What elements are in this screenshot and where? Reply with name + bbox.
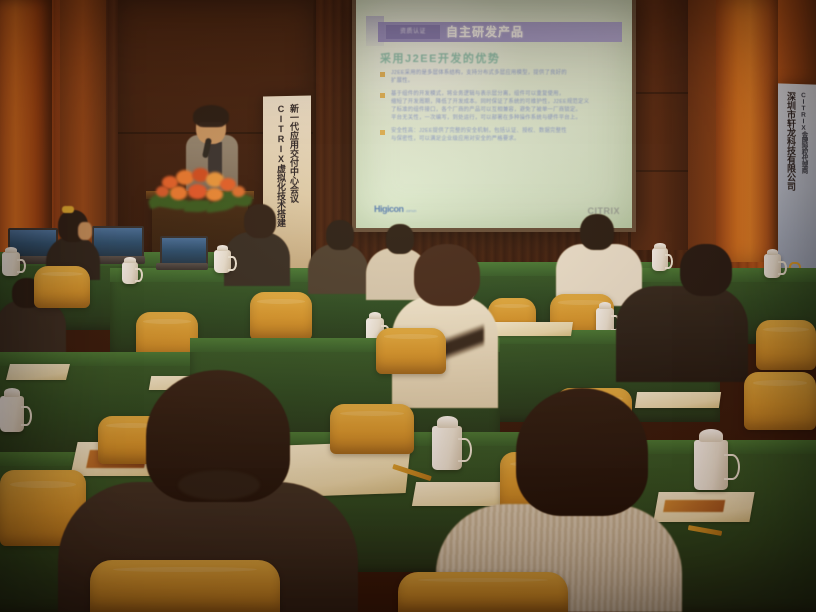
presenter-glasses	[199, 122, 223, 127]
lidded-tea-mug[interactable]	[122, 262, 138, 284]
banquet-chair[interactable]	[398, 572, 568, 612]
slide-bullet: J2EE采用的是多层体系结构，支持分布式多层应用模型，提供了良好的 扩展性。	[380, 70, 618, 85]
handout-brochure[interactable]	[491, 322, 573, 336]
handout-brochure[interactable]	[653, 492, 754, 522]
handout-brochure[interactable]	[635, 392, 721, 408]
slide-bullet: 安全性高：J2EE提供了完整的安全机制，包括认证、授权、数据完整性 与保密性，可…	[380, 128, 618, 143]
banquet-chair[interactable]	[250, 292, 312, 340]
left-banner-line1: CITRIX虚拟化技术搭建	[275, 104, 286, 227]
right-banner-line2: CITRIX金牌授权代理商	[798, 92, 809, 191]
projection-screen-surface: 资质认证 自主研发产品 采用J2EE开发的优势 J2EE采用的是多层体系结构，支…	[356, 0, 632, 228]
wall-panel-right-2	[688, 0, 718, 250]
right-roll-up-banner: 深圳市轩龙科技有限公司 CITRIX金牌授权代理商	[778, 83, 816, 290]
banquet-chair[interactable]	[330, 404, 414, 454]
flower-arrangement	[148, 166, 256, 212]
left-banner-line2: 新一代应用交付中心会议	[288, 104, 299, 227]
wall-seam-1	[313, 0, 316, 262]
lidded-tea-mug[interactable]	[652, 248, 668, 271]
slide-footer-logo: Higicon.com.cn	[374, 204, 416, 214]
hair-clip	[62, 206, 74, 213]
handout-brochure[interactable]	[6, 364, 70, 380]
slide-title: 自主研发产品	[446, 24, 524, 40]
conference-photo: 资质认证 自主研发产品 采用J2EE开发的优势 J2EE采用的是多层体系结构，支…	[0, 0, 816, 612]
pillar-right	[716, 0, 778, 262]
lidded-tea-mug[interactable]	[214, 250, 231, 273]
slide-title-tab-label: 资质认证	[386, 25, 440, 39]
lidded-tea-mug[interactable]	[764, 254, 781, 278]
slide-bullet-list: J2EE采用的是多层体系结构，支持分布式多层应用模型，提供了良好的 扩展性。 基…	[380, 70, 618, 149]
lidded-tea-mug[interactable]	[2, 252, 20, 276]
banquet-chair[interactable]	[376, 328, 446, 374]
slide-bullet: 基于组件的开发模式，将业务逻辑与表示层分离，组件可以重复使用， 缩短了开发周期，…	[380, 91, 618, 122]
banquet-chair[interactable]	[744, 372, 816, 430]
lidded-tea-mug[interactable]	[432, 426, 462, 470]
slide-title-tab: 资质认证	[386, 25, 440, 39]
right-banner-line1: 深圳市轩龙科技有限公司	[785, 92, 796, 191]
banquet-chair[interactable]	[756, 320, 816, 370]
laptop[interactable]	[160, 236, 204, 270]
lidded-tea-mug[interactable]	[0, 396, 24, 432]
banquet-chair[interactable]	[34, 266, 90, 308]
slide-title-bar: 资质认证 自主研发产品	[378, 22, 622, 42]
projection-screen: 资质认证 自主研发产品 采用J2EE开发的优势 J2EE采用的是多层体系结构，支…	[352, 0, 636, 232]
collar	[178, 470, 260, 500]
lidded-tea-mug[interactable]	[694, 440, 728, 490]
slide-heading: 采用J2EE开发的优势	[380, 50, 500, 66]
banquet-chair[interactable]	[90, 560, 280, 612]
